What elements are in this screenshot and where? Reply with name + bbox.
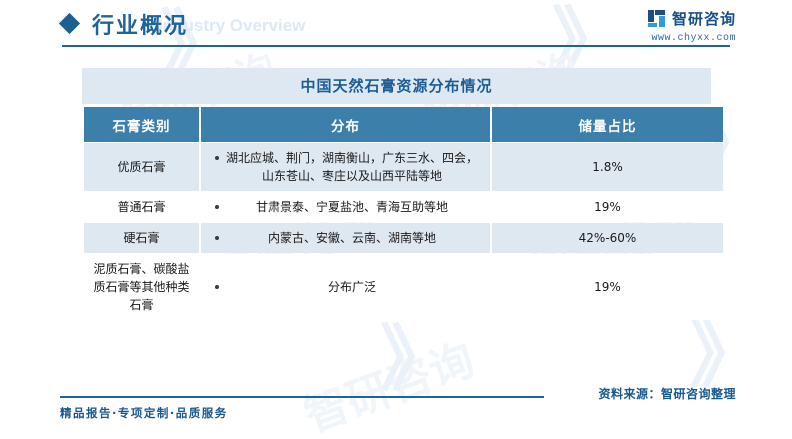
footer-slogan: 精品报告·专项定制·品质服务: [60, 405, 228, 421]
bullet-icon: [215, 236, 219, 240]
header-divider: [62, 45, 730, 47]
cell-distribution: 分布广泛: [201, 254, 490, 320]
table-header-row: 石膏类别 分布 储量占比: [84, 107, 723, 142]
cell-distribution-text: 甘肃景泰、宁夏盐池、青海互助等地: [226, 198, 486, 216]
cell-category: 硬石膏: [84, 223, 199, 253]
gypsum-distribution-table: 石膏类别 分布 储量占比 优质石膏 湖北应城、荆门，湖南衡山，广东三水、四会，山…: [82, 106, 725, 321]
table-title: 中国天然石膏资源分布情况: [82, 68, 711, 104]
footer-source: 资料来源：智研咨询整理: [598, 385, 736, 402]
table-row: 普通石膏 甘肃景泰、宁夏盐池、青海互助等地 19%: [84, 192, 723, 222]
column-header-share: 储量占比: [492, 107, 723, 142]
bullet-icon: [215, 156, 219, 160]
column-header-category: 石膏类别: [84, 107, 199, 142]
page-footer: 精品报告·专项定制·品质服务 资料来源：智研咨询整理: [0, 385, 792, 439]
table-row: 泥质石膏、碳酸盐质石膏等其他种类石膏 分布广泛 19%: [84, 254, 723, 320]
cell-category: 普通石膏: [84, 192, 199, 222]
table-row: 硬石膏 内蒙古、安徽、云南、湖南等地 42%-60%: [84, 223, 723, 253]
cell-distribution-text: 湖北应城、荆门，湖南衡山，广东三水、四会，山东苍山、枣庄以及山西平陆等地: [226, 149, 486, 185]
column-header-distribution: 分布: [201, 107, 490, 142]
cell-distribution: 内蒙古、安徽、云南、湖南等地: [201, 223, 490, 253]
cell-distribution: 甘肃景泰、宁夏盐池、青海互助等地: [201, 192, 490, 222]
page-header: Industry Overview 行业概况 智研咨询 www.chyxx.co…: [0, 0, 792, 56]
brand-logo[interactable]: 智研咨询 www.chyxx.com: [648, 8, 736, 44]
page-title: 行业概况: [92, 8, 188, 40]
cell-share: 19%: [492, 192, 723, 222]
cell-category: 优质石膏: [84, 143, 199, 191]
cell-distribution-text: 分布广泛: [226, 278, 486, 296]
diamond-icon: [59, 13, 80, 34]
footer-divider: [60, 396, 544, 398]
cell-share: 19%: [492, 254, 723, 320]
table-row: 优质石膏 湖北应城、荆门，湖南衡山，广东三水、四会，山东苍山、枣庄以及山西平陆等…: [84, 143, 723, 191]
zhiyan-logo-icon: [648, 10, 665, 27]
bullet-icon: [215, 285, 219, 289]
brand-name: 智研咨询: [672, 8, 736, 29]
cell-distribution-text: 内蒙古、安徽、云南、湖南等地: [226, 229, 486, 247]
cell-category: 泥质石膏、碳酸盐质石膏等其他种类石膏: [84, 254, 199, 320]
cell-distribution: 湖北应城、荆门，湖南衡山，广东三水、四会，山东苍山、枣庄以及山西平陆等地: [201, 143, 490, 191]
cell-share: 42%-60%: [492, 223, 723, 253]
bullet-icon: [215, 205, 219, 209]
cell-share: 1.8%: [492, 143, 723, 191]
resource-table-block: 中国天然石膏资源分布情况 石膏类别 分布 储量占比 优质石膏 湖北应城、荆门，湖…: [82, 68, 711, 321]
brand-url[interactable]: www.chyxx.com: [648, 33, 736, 44]
